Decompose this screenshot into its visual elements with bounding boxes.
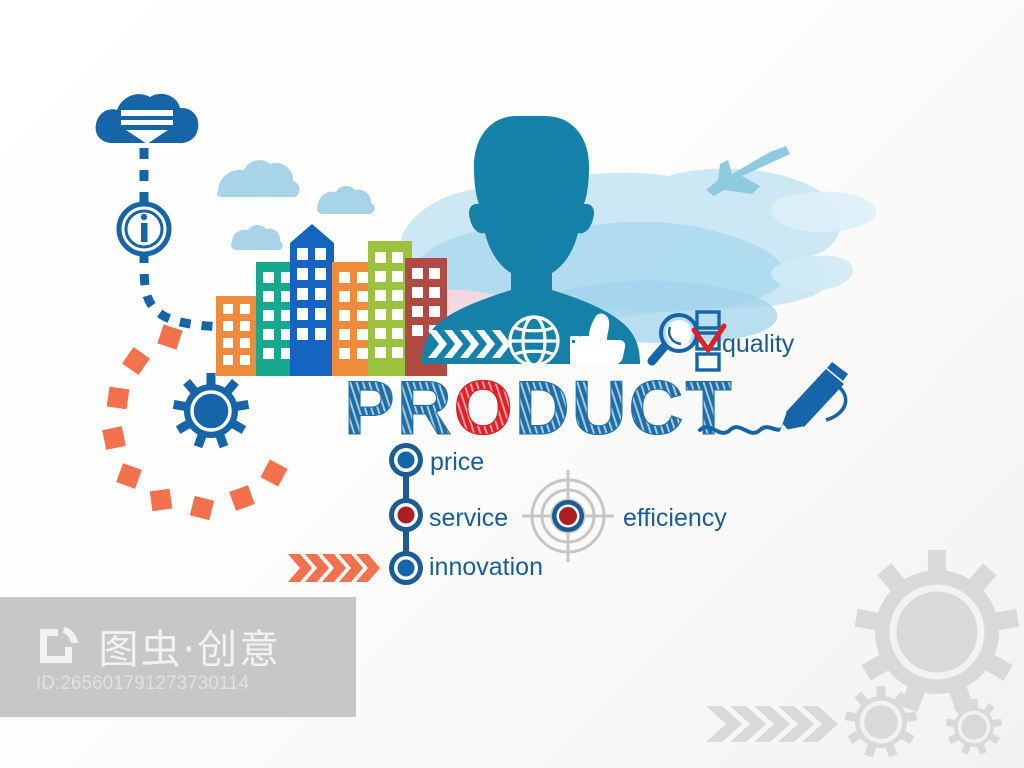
pen-icon (779, 362, 848, 433)
keyword-marker-innovation (389, 551, 423, 585)
keyword-chain (389, 443, 423, 585)
callout-label-efficiency: efficiency (623, 504, 727, 533)
svg-text:PRO: PRO (344, 366, 515, 451)
decorative-gears (706, 550, 1019, 757)
cloud-shape (217, 160, 375, 250)
page-title: PRODUCT PRODUCT PRO PRO (344, 366, 734, 451)
gear-icon (173, 373, 249, 448)
chevron-right-icon (288, 554, 380, 582)
callout-label-quality: quality (722, 330, 794, 359)
chevron-right-icon (706, 706, 838, 742)
keyword-marker-service (389, 498, 423, 532)
watermark-brand-text: 图虫·创意 (98, 617, 281, 675)
building (290, 224, 334, 376)
keyword-label-price: price (430, 448, 484, 477)
watermark-brand-row: 图虫·创意 (36, 617, 281, 675)
illustration-canvas: PRODUCT PRODUCT PRO PRO (0, 0, 1024, 768)
info-icon (119, 204, 169, 254)
keyword-label-innovation: innovation (429, 553, 543, 582)
watermark-id-text: ID:265601791273730114 (36, 673, 249, 695)
watermark-logo-icon (36, 623, 82, 669)
building (216, 296, 258, 376)
cloud-download-icon (96, 94, 199, 144)
keyword-marker-price (389, 443, 423, 477)
watermark-overlay: 图虫·创意 ID:265601791273730114 (0, 597, 356, 717)
target-icon (522, 470, 614, 562)
keyword-label-service: service (429, 504, 508, 533)
